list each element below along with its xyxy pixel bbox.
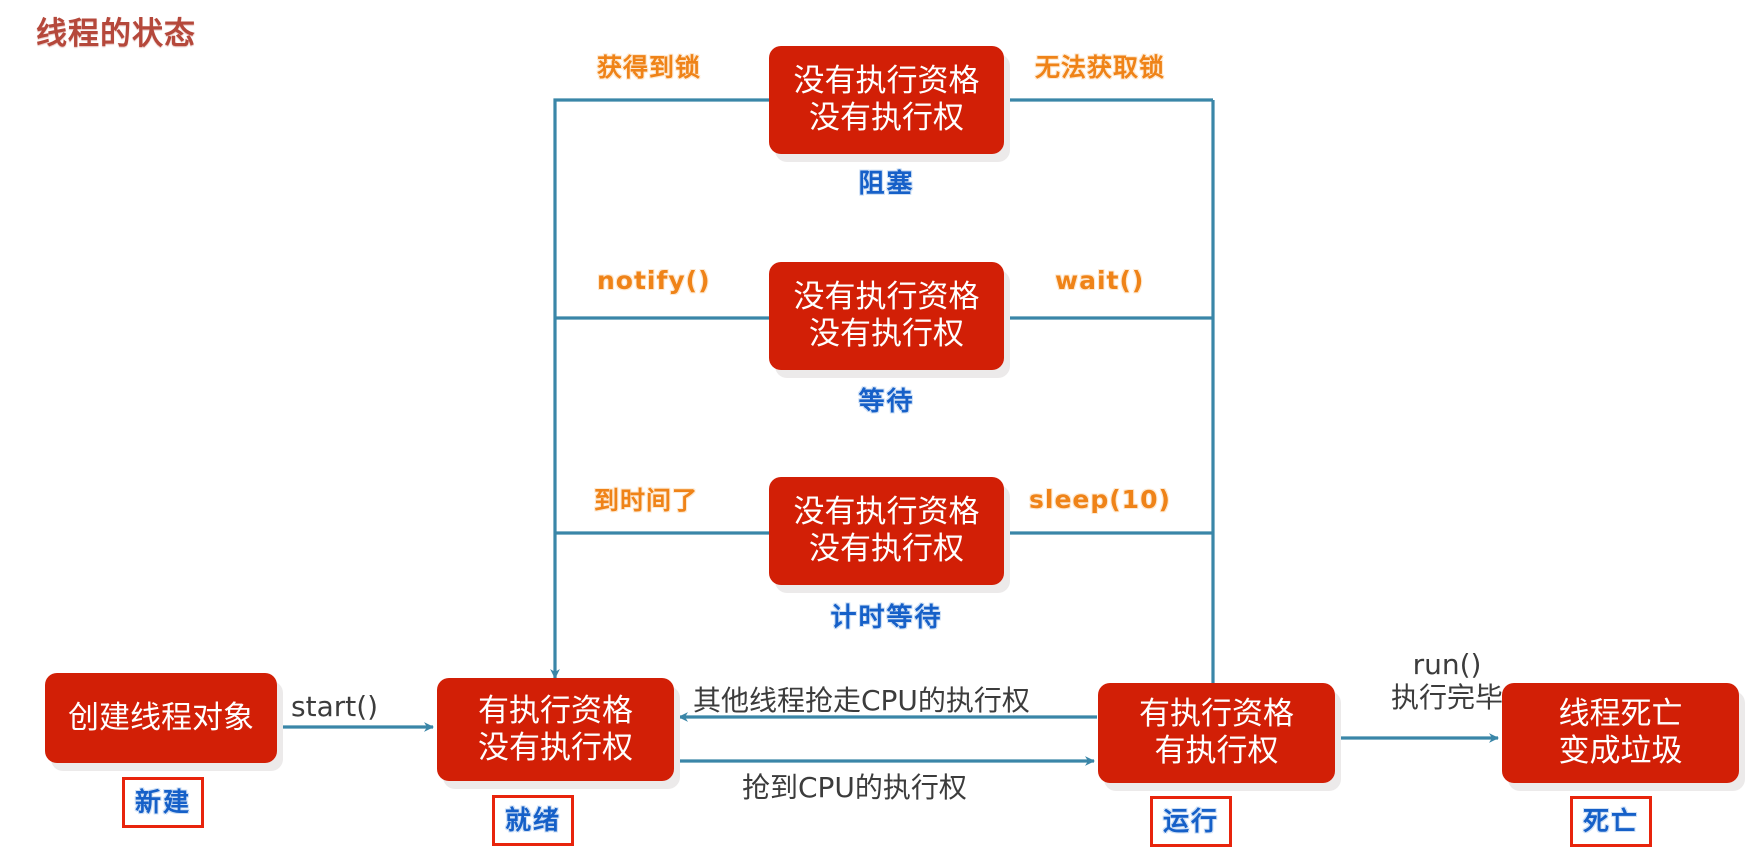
state-timed-waiting-line1: 没有执行资格	[794, 494, 980, 531]
state-blocked-line2: 没有执行权	[809, 100, 964, 137]
state-box-dead[interactable]: 线程死亡 变成垃圾	[1502, 683, 1739, 783]
state-box-runnable[interactable]: 有执行资格 没有执行权	[437, 678, 674, 781]
state-caption-running: 运行	[1150, 796, 1232, 847]
state-runnable-line1: 有执行资格	[478, 693, 633, 730]
state-waiting-line2: 没有执行权	[809, 316, 964, 353]
state-caption-new: 新建	[122, 777, 204, 828]
state-caption-timed-waiting: 计时等待	[764, 597, 1009, 634]
state-caption-runnable: 就绪	[492, 795, 574, 846]
edge-label-start: start()	[291, 690, 378, 723]
state-running-line1: 有执行资格	[1139, 696, 1294, 733]
state-box-blocked[interactable]: 没有执行资格 没有执行权	[769, 46, 1004, 154]
edge-label-preempted: 其他线程抢走CPU的执行权	[693, 679, 1030, 719]
state-blocked-line1: 没有执行资格	[794, 63, 980, 100]
thread-state-diagram: 线程的状态 没有执行资格 没有执行权 阻塞 获得到锁 无法获取锁 没有执行资格 …	[0, 0, 1752, 859]
edge-label-unable-to-lock: 无法获取锁	[1035, 48, 1165, 84]
page-title: 线程的状态	[36, 8, 196, 53]
edge-label-run-finished-line1: run()	[1357, 648, 1537, 681]
state-caption-waiting: 等待	[769, 381, 1004, 418]
state-new-line1: 创建线程对象	[68, 700, 254, 737]
state-timed-waiting-line2: 没有执行权	[809, 531, 964, 568]
state-caption-dead: 死亡	[1570, 796, 1652, 847]
state-caption-blocked: 阻塞	[769, 163, 1004, 200]
edge-label-time-up: 到时间了	[594, 481, 698, 517]
state-box-running[interactable]: 有执行资格 有执行权	[1098, 683, 1335, 783]
edge-label-notify: notify()	[597, 266, 711, 295]
state-box-new[interactable]: 创建线程对象	[45, 673, 277, 763]
state-dead-line2: 变成垃圾	[1559, 733, 1683, 770]
edge-label-acquired-cpu: 抢到CPU的执行权	[742, 766, 967, 806]
edge-label-sleep: sleep(10)	[1029, 485, 1171, 514]
state-box-timed-waiting[interactable]: 没有执行资格 没有执行权	[769, 477, 1004, 585]
state-waiting-line1: 没有执行资格	[794, 279, 980, 316]
state-runnable-line2: 没有执行权	[478, 730, 633, 767]
state-running-line2: 有执行权	[1155, 733, 1279, 770]
state-box-waiting[interactable]: 没有执行资格 没有执行权	[769, 262, 1004, 370]
state-dead-line1: 线程死亡	[1559, 696, 1683, 733]
edge-label-got-lock: 获得到锁	[597, 48, 701, 84]
edge-label-wait: wait()	[1055, 266, 1144, 295]
